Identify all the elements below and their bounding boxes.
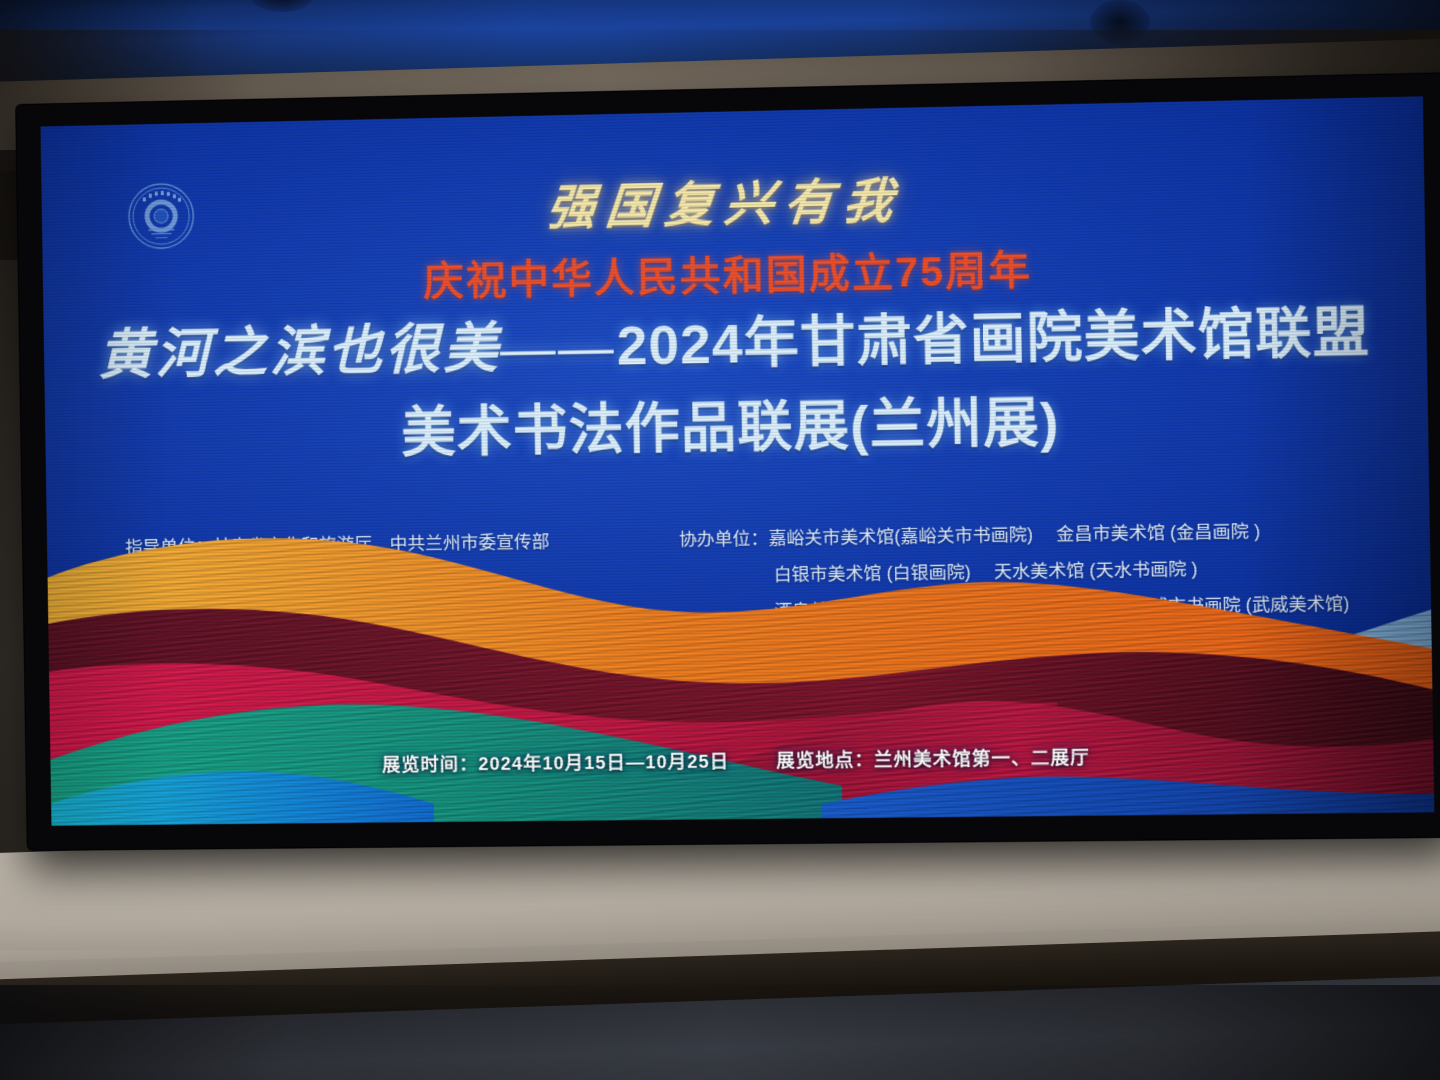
exhibition-title: 黄河之滨也很美——2024年甘肃省画院美术馆联盟 美术书法作品联展(兰州展) — [44, 301, 1429, 474]
title-calligraphy-part: 黄河之滨也很美—— — [98, 316, 618, 386]
gallery-scene: 强国复兴有我 庆祝中华人民共和国成立75周年 黄河之滨也很美——2024年甘肃省… — [0, 0, 1440, 1080]
floor-shadow — [0, 985, 1440, 1080]
screen-surface[interactable]: 强国复兴有我 庆祝中华人民共和国成立75周年 黄河之滨也很美——2024年甘肃省… — [40, 96, 1434, 825]
place-label: 展览地点： — [776, 750, 874, 771]
place-value: 兰州美术馆第一、二展厅 — [874, 747, 1090, 770]
led-video-wall[interactable]: 强国复兴有我 庆祝中华人民共和国成立75周年 黄河之滨也很美——2024年甘肃省… — [16, 73, 1440, 850]
title-line-1-rest: 2024年甘肃省画院美术馆联盟 — [616, 302, 1370, 376]
time-value: 2024年10月15日—10月25日 — [478, 751, 729, 774]
time-label: 展览时间： — [382, 754, 479, 775]
